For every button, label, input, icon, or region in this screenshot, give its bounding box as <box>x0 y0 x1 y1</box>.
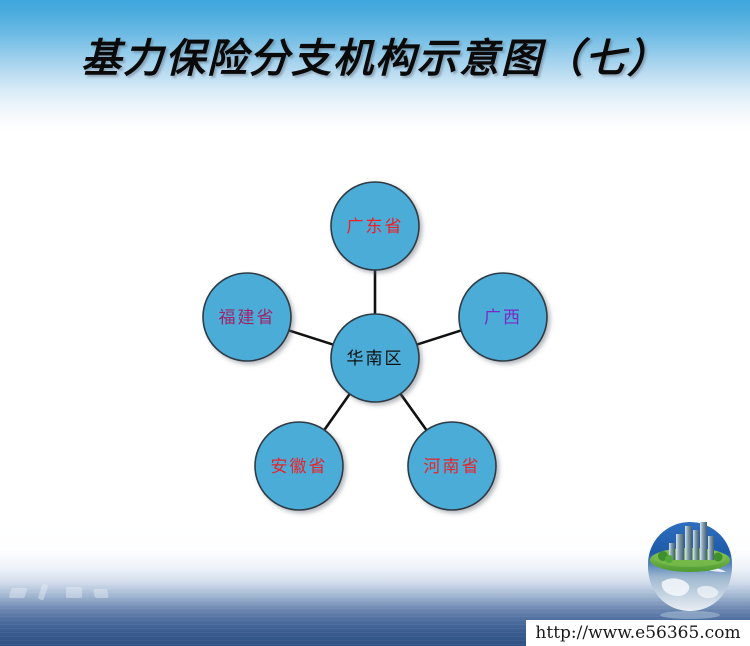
diagram-node-branch-4[interactable]: 安徽省 <box>255 422 343 510</box>
diagram-node-branch-4-label: 安徽省 <box>271 457 328 477</box>
diagram-nodes: 广东省广西河南省安徽省福建省华南区 <box>203 182 547 510</box>
diagram-node-branch-2-label: 广西 <box>484 308 522 328</box>
diagram-node-branch-3[interactable]: 河南省 <box>408 422 496 510</box>
diagram-node-branch-1[interactable]: 广东省 <box>331 182 419 270</box>
watermark-url-text: http://www.e56365.com <box>535 623 740 643</box>
diagram-node-branch-1-label: 广东省 <box>347 217 404 237</box>
diagram-edge-2 <box>415 330 463 345</box>
diagram-edge-5 <box>287 330 335 345</box>
diagram-edge-3 <box>399 392 427 432</box>
diagram-node-branch-5[interactable]: 福建省 <box>203 273 291 361</box>
diagram-node-center[interactable]: 华南区 <box>331 314 419 402</box>
diagram-node-center-label: 华南区 <box>347 349 404 369</box>
diagram-node-branch-3-label: 河南省 <box>424 457 481 477</box>
slide-canvas: 基力保险分支机构示意图（七） 广东省广西河南省安徽省福建省华南区 <box>0 0 750 646</box>
diagram-node-branch-5-label: 福建省 <box>219 308 276 328</box>
watermark-url-box: http://www.e56365.com <box>526 620 750 646</box>
diagram-edge-4 <box>323 392 351 431</box>
diagram-node-branch-2[interactable]: 广西 <box>459 273 547 361</box>
globe-city-logo <box>638 516 742 620</box>
globe-city-icon <box>638 516 742 620</box>
